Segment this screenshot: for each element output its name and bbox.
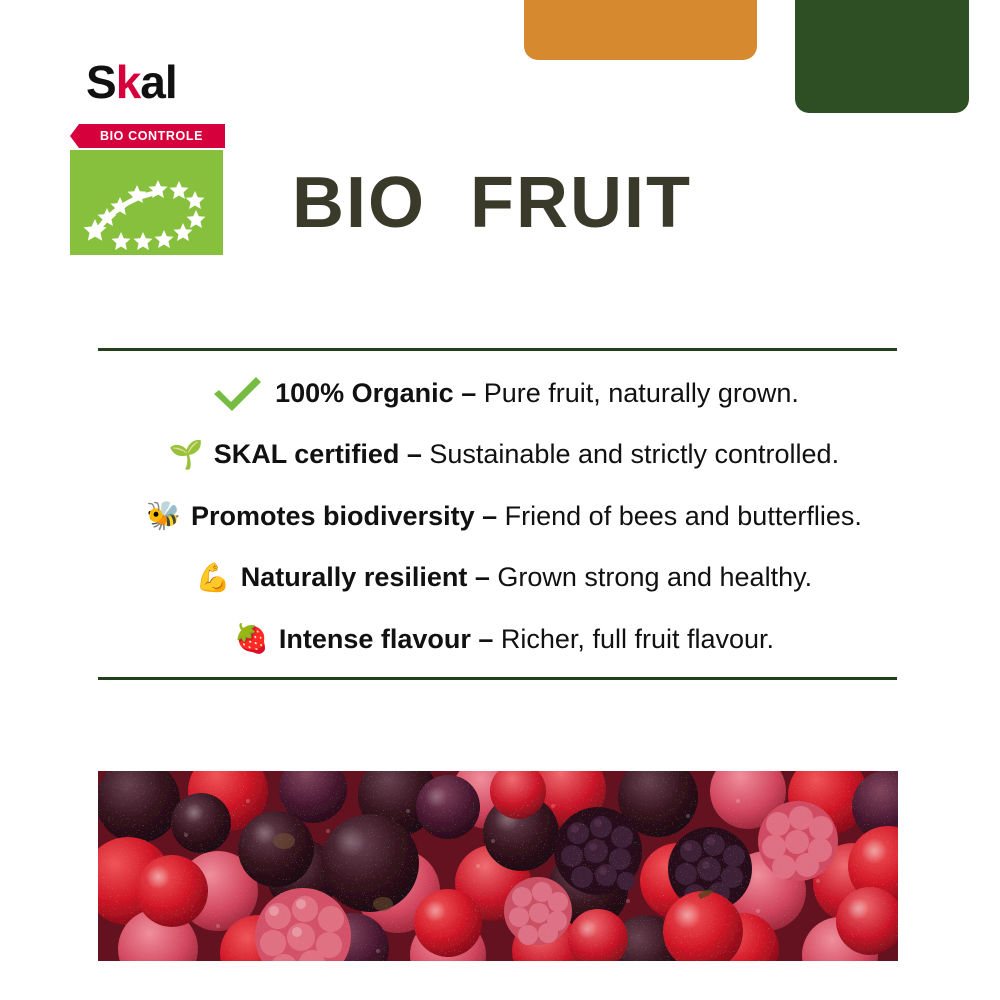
feature-bold-biodiversity: Promotes biodiversity bbox=[191, 501, 475, 531]
feature-text-flavour: Intense flavour – Richer, full fruit fla… bbox=[279, 624, 774, 655]
bio-controle-banner: BIO CONTROLE bbox=[70, 124, 225, 148]
feature-dash-organic: – bbox=[454, 378, 484, 408]
feature-dash-resilient: – bbox=[467, 562, 497, 592]
page-title: BIO FRUIT bbox=[292, 160, 692, 246]
skal-wordmark-accent: k bbox=[116, 56, 141, 108]
green-check-icon bbox=[209, 373, 265, 413]
skal-wordmark-prefix: S bbox=[86, 56, 116, 108]
green-corner-block bbox=[795, 0, 969, 113]
feature-text-resilient: Naturally resilient – Grown strong and h… bbox=[241, 562, 812, 593]
feature-rest-resilient: Grown strong and healthy. bbox=[497, 562, 812, 592]
feature-item-organic: 100% Organic – Pure fruit, naturally gro… bbox=[98, 366, 910, 420]
banner-label: BIO CONTROLE bbox=[70, 124, 225, 148]
feature-rest-organic: Pure fruit, naturally grown. bbox=[484, 378, 799, 408]
feature-item-skal: 🌱 SKAL certified – Sustainable and stric… bbox=[98, 428, 910, 482]
feature-text-organic: 100% Organic – Pure fruit, naturally gro… bbox=[275, 378, 799, 409]
flexed-biceps-icon: 💪 bbox=[196, 564, 231, 592]
skal-wordmark-suffix: al bbox=[140, 56, 176, 108]
seedling-icon: 🌱 bbox=[169, 441, 204, 469]
feature-dash-skal: – bbox=[399, 439, 429, 469]
bee-icon: 🐝 bbox=[146, 502, 181, 530]
feature-bold-skal: SKAL certified bbox=[214, 439, 400, 469]
feature-dash-biodiversity: – bbox=[475, 501, 505, 531]
frozen-mixed-berries-photo bbox=[98, 771, 898, 961]
skal-wordmark: Skal bbox=[86, 58, 261, 106]
feature-text-biodiversity: Promotes biodiversity – Friend of bees a… bbox=[191, 501, 862, 532]
feature-item-biodiversity: 🐝 Promotes biodiversity – Friend of bees… bbox=[98, 489, 910, 543]
strawberry-icon: 🍓 bbox=[234, 625, 269, 653]
eu-organic-leaf-logo bbox=[70, 150, 223, 255]
orange-corner-block bbox=[524, 0, 757, 60]
feature-rest-skal: Sustainable and strictly controlled. bbox=[429, 439, 839, 469]
feature-bold-organic: 100% Organic bbox=[275, 378, 454, 408]
poster-canvas: Skal BIO CONTROLE bbox=[0, 0, 1000, 1000]
feature-item-resilient: 💪 Naturally resilient – Grown strong and… bbox=[98, 551, 910, 605]
skal-logo: Skal BIO CONTROLE bbox=[70, 58, 245, 106]
feature-text-skal: SKAL certified – Sustainable and strictl… bbox=[214, 439, 839, 470]
divider-top bbox=[98, 348, 897, 351]
feature-item-flavour: 🍓 Intense flavour – Richer, full fruit f… bbox=[98, 612, 910, 666]
feature-bold-resilient: Naturally resilient bbox=[241, 562, 468, 592]
divider-bottom bbox=[98, 677, 897, 680]
feature-list: 100% Organic – Pure fruit, naturally gro… bbox=[98, 366, 910, 666]
feature-rest-biodiversity: Friend of bees and butterflies. bbox=[505, 501, 862, 531]
feature-dash-flavour: – bbox=[471, 624, 501, 654]
feature-bold-flavour: Intense flavour bbox=[279, 624, 471, 654]
feature-rest-flavour: Richer, full fruit flavour. bbox=[501, 624, 774, 654]
